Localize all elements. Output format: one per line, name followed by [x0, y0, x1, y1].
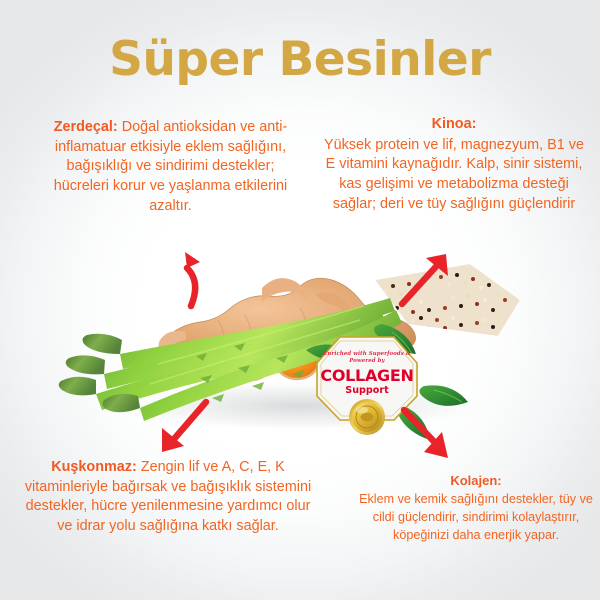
food-illustration [0, 228, 600, 458]
kuskonmaz-heading: Kuşkonmaz: [51, 459, 137, 475]
badge-shape [313, 333, 421, 438]
gold-medal-icon [349, 399, 385, 435]
text-block-kuskonmaz: Kuşkonmaz: Zengin lif ve A, C, E, K vita… [18, 458, 318, 537]
kinoa-heading: Kinoa: [318, 115, 590, 135]
kolajen-heading: Kolajen: [356, 472, 596, 490]
collagen-support-badge: Enriched with Superfoods & Powered by CO… [313, 333, 421, 438]
text-block-kolajen: Kolajen:Eklem ve kemik sağlığını destekl… [356, 472, 596, 545]
superfoods-poster: Süper Besinler [0, 0, 600, 600]
text-block-kinoa: Kinoa:Yüksek protein ve lif, magnezyum, … [318, 115, 590, 215]
zerdecal-heading: Zerdeçal: [54, 119, 118, 135]
text-block-zerdecal: Zerdeçal: Doğal antioksidan ve anti-infl… [38, 118, 303, 217]
page-title: Süper Besinler [0, 36, 600, 83]
kolajen-body: Eklem ve kemik sağlığını destekler, tüy … [359, 492, 593, 542]
kinoa-body: Yüksek protein ve lif, magnezyum, B1 ve … [324, 137, 584, 212]
food-photo-group [0, 228, 600, 458]
